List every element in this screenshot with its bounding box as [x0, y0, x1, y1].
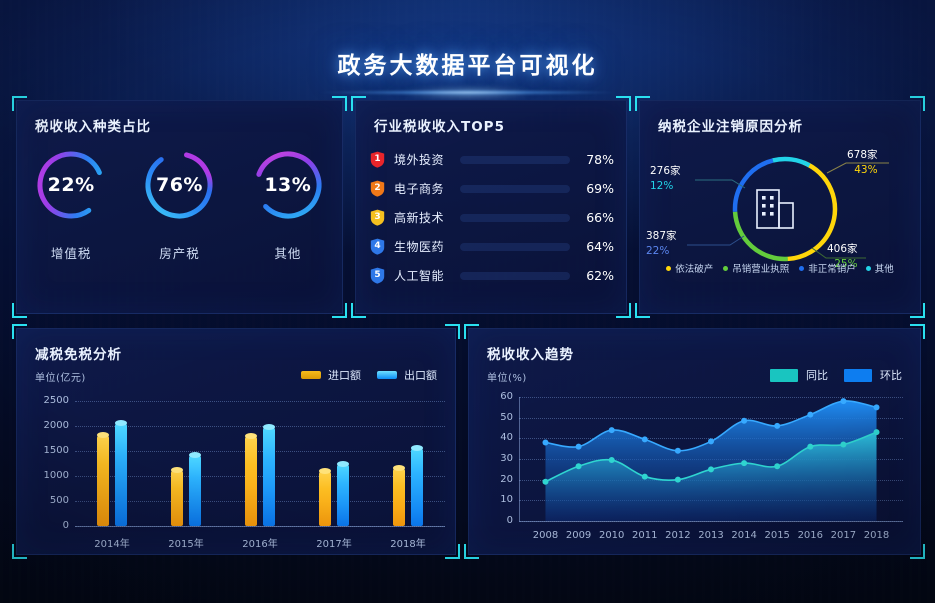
rank-number: 1	[370, 151, 385, 168]
y-axis-tick: 0	[35, 520, 69, 531]
x-axis-line	[75, 526, 445, 527]
top5-row[interactable]: 5人工智能62%	[370, 261, 614, 290]
bar-chart-plot: 050010001500200025002014年2015年2016年2017年…	[17, 329, 455, 554]
data-point[interactable]	[741, 418, 747, 424]
data-point[interactable]	[542, 479, 548, 485]
gauge-value: 13%	[250, 147, 326, 223]
top5-percent: 64%	[580, 239, 614, 254]
gauge-label: 增值税	[51, 243, 92, 262]
corner-bracket-tr	[910, 96, 925, 111]
donut-legend-item[interactable]: 依法破产	[666, 261, 713, 275]
data-point[interactable]	[675, 477, 681, 483]
bar-cap	[189, 452, 201, 458]
bar-cap	[319, 468, 331, 474]
legend-swatch	[723, 266, 728, 271]
data-point[interactable]	[840, 442, 846, 448]
donut-legend: 依法破产吊销营业执照非正常销户其他	[640, 261, 920, 275]
data-point[interactable]	[609, 457, 615, 463]
legend-label: 非正常销户	[808, 261, 856, 275]
top5-percent: 62%	[580, 268, 614, 283]
x-axis-tick: 2015年	[160, 535, 212, 550]
gridline	[75, 426, 445, 427]
panel-tax-trend: 税收收入趋势 单位(%) 同比环比 0102030405060200820092…	[468, 328, 921, 555]
building-icon	[757, 190, 793, 228]
gauge-label: 房产税	[159, 243, 200, 262]
dashboard-root: 政务大数据平台可视化 税收收入种类占比	[0, 0, 935, 603]
data-point[interactable]	[576, 463, 582, 469]
corner-bracket-tl	[635, 96, 650, 111]
gauge-item[interactable]: 76% 房产税	[125, 147, 233, 297]
corner-bracket-bl	[635, 303, 650, 318]
bar-进口额[interactable]	[245, 436, 257, 526]
data-point[interactable]	[874, 429, 880, 435]
rank-shield-icon: 2	[370, 180, 385, 197]
top5-name: 人工智能	[394, 267, 450, 284]
data-point[interactable]	[642, 474, 648, 480]
data-point[interactable]	[840, 398, 846, 404]
top5-name: 电子商务	[394, 180, 450, 197]
bar-出口额[interactable]	[189, 455, 201, 527]
gauge-value: 76%	[141, 147, 217, 223]
donut-legend-item[interactable]: 其他	[866, 261, 894, 275]
top5-name: 生物医药	[394, 238, 450, 255]
gauge-item[interactable]: 13% 其他	[234, 147, 342, 297]
corner-bracket-tr	[616, 96, 631, 111]
bar-进口额[interactable]	[393, 468, 405, 527]
bar-cap	[171, 467, 183, 473]
data-point[interactable]	[774, 463, 780, 469]
page-title: 政务大数据平台可视化	[0, 46, 935, 80]
bar-进口额[interactable]	[319, 471, 331, 526]
gauge-item[interactable]: 22% 增值税	[17, 147, 125, 297]
panel-industry-top5: 行业税收收入TOP5 1境外投资78%2电子商务69%3高新技术66%4生物医药…	[355, 100, 627, 314]
title-glow-flare	[258, 89, 678, 96]
bar-cap	[97, 432, 109, 438]
bar-出口额[interactable]	[115, 423, 127, 527]
y-axis-tick: 1500	[35, 445, 69, 456]
legend-label: 依法破产	[675, 261, 713, 275]
data-point[interactable]	[675, 448, 681, 454]
gridline	[75, 401, 445, 402]
bar-出口额[interactable]	[337, 464, 349, 526]
panel-cancel-reason: 纳税企业注销原因分析	[639, 100, 921, 314]
top5-row[interactable]: 2电子商务69%	[370, 174, 614, 203]
top5-percent: 66%	[580, 210, 614, 225]
donut-label-3: 276家 12%	[650, 163, 681, 192]
y-axis-tick: 2000	[35, 420, 69, 431]
bar-进口额[interactable]	[97, 435, 109, 527]
gauge-label: 其他	[274, 243, 301, 262]
donut-legend-item[interactable]: 吊销营业执照	[723, 261, 789, 275]
gauge-group: 22% 增值税 76%	[17, 147, 342, 297]
legend-swatch	[866, 266, 871, 271]
rank-number: 5	[370, 267, 385, 284]
panel-title-cancel-reason: 纳税企业注销原因分析	[658, 115, 803, 135]
rank-shield-icon: 1	[370, 151, 385, 168]
gauge-ring-1: 22%	[33, 147, 109, 223]
bar-出口额[interactable]	[263, 427, 275, 526]
bar-cap	[245, 433, 257, 439]
legend-label: 吊销营业执照	[732, 261, 789, 275]
legend-swatch	[666, 266, 671, 271]
gridline	[75, 501, 445, 502]
top5-progress-track	[460, 272, 570, 280]
data-point[interactable]	[609, 427, 615, 433]
top5-row[interactable]: 4生物医药64%	[370, 232, 614, 261]
bar-出口额[interactable]	[411, 448, 423, 526]
y-axis-tick: 1000	[35, 470, 69, 481]
x-axis-tick: 2017年	[308, 535, 360, 550]
panel-title-tax-share: 税收收入种类占比	[35, 115, 151, 135]
rank-number: 2	[370, 180, 385, 197]
top5-percent: 69%	[580, 181, 614, 196]
bar-进口额[interactable]	[171, 470, 183, 527]
corner-bracket-bl	[351, 303, 366, 318]
area-chart-plot: 0102030405060200820092010201120122013201…	[469, 329, 920, 554]
panel-title-top5: 行业税收收入TOP5	[374, 115, 505, 135]
data-point[interactable]	[807, 412, 813, 418]
panel-tax-share: 税收收入种类占比 22% 增值税	[16, 100, 343, 314]
data-point[interactable]	[807, 444, 813, 450]
rank-shield-icon: 5	[370, 267, 385, 284]
top5-row[interactable]: 1境外投资78%	[370, 145, 614, 174]
gauge-ring-3: 13%	[250, 147, 326, 223]
corner-bracket-br	[332, 303, 347, 318]
y-axis-tick: 2500	[35, 395, 69, 406]
y-axis-tick: 500	[35, 495, 69, 506]
corner-bracket-br	[910, 303, 925, 318]
top5-progress-track	[460, 185, 570, 193]
donut-legend-item[interactable]: 非正常销户	[799, 261, 856, 275]
top5-progress-track	[460, 243, 570, 251]
rank-shield-icon: 4	[370, 238, 385, 255]
bar-cap	[393, 465, 405, 471]
donut-label-0: 678家 43%	[847, 147, 878, 176]
rank-number: 4	[370, 238, 385, 255]
top5-name: 高新技术	[394, 209, 450, 226]
panel-tax-reduction: 减税免税分析 单位(亿元) 进口额出口额 0500100015002000250…	[16, 328, 456, 555]
dashboard-header: 政务大数据平台可视化	[0, 0, 935, 96]
data-point[interactable]	[576, 444, 582, 450]
data-point[interactable]	[708, 466, 714, 472]
corner-bracket-br	[616, 303, 631, 318]
gauge-ring-2: 76%	[141, 147, 217, 223]
gauge-value: 22%	[33, 147, 109, 223]
data-point[interactable]	[542, 439, 548, 445]
top5-percent: 78%	[580, 152, 614, 167]
data-point[interactable]	[774, 423, 780, 429]
data-point[interactable]	[874, 404, 880, 410]
donut-chart: 678家 43% 276家 12% 387家 22% 406家 25% 依法破产…	[640, 135, 920, 285]
legend-label: 其他	[875, 261, 894, 275]
bar-cap	[263, 424, 275, 430]
bar-cap	[337, 461, 349, 467]
rank-shield-icon: 3	[370, 209, 385, 226]
x-axis-tick: 2016年	[234, 535, 286, 550]
top5-name: 境外投资	[394, 151, 450, 168]
corner-bracket-tr	[332, 96, 347, 111]
gridline	[75, 476, 445, 477]
x-axis-tick: 2018年	[382, 535, 434, 550]
corner-bracket-bl	[12, 303, 27, 318]
bar-cap	[115, 420, 127, 426]
data-point[interactable]	[741, 460, 747, 466]
donut-label-2: 387家 22%	[646, 228, 677, 257]
rank-number: 3	[370, 209, 385, 226]
data-point[interactable]	[708, 438, 714, 444]
bar-cap	[411, 445, 423, 451]
corner-bracket-tl	[12, 96, 27, 111]
top5-progress-track	[460, 156, 570, 164]
legend-swatch	[799, 266, 804, 271]
x-axis-tick: 2014年	[86, 535, 138, 550]
gridline	[75, 451, 445, 452]
top5-row[interactable]: 3高新技术66%	[370, 203, 614, 232]
top5-list: 1境外投资78%2电子商务69%3高新技术66%4生物医药64%5人工智能62%	[370, 145, 614, 290]
top5-progress-track	[460, 214, 570, 222]
corner-bracket-tl	[351, 96, 366, 111]
data-point[interactable]	[642, 436, 648, 442]
